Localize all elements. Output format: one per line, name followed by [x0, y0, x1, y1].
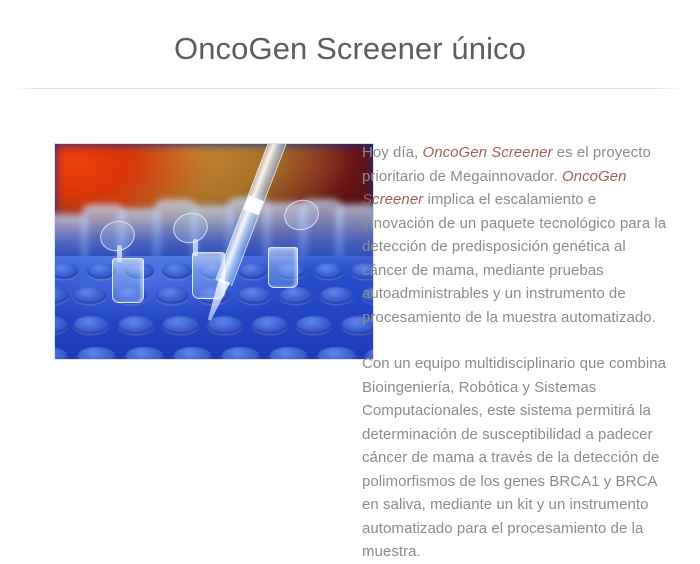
page-title: OncoGen Screener único	[0, 29, 700, 69]
article-text-column: Hoy día, OncoGen Screener es el proyecto…	[362, 141, 670, 564]
photo-tube-left-hinge	[117, 245, 122, 262]
lab-photo-image	[55, 144, 373, 359]
page-root: OncoGen Screener único	[0, 0, 700, 562]
photo-tube-right	[268, 247, 298, 288]
section-divider	[14, 88, 686, 89]
photo-tube-center-hinge	[193, 239, 198, 256]
lab-photo-figure	[54, 143, 374, 360]
paragraph-1-segment-3: implica el escalamiento e innovación de …	[362, 191, 666, 326]
paragraph-2: Con un equipo multidisciplinario que com…	[362, 352, 670, 564]
paragraph-1-segment-1: Hoy día,	[362, 144, 422, 161]
paragraph-1: Hoy día, OncoGen Screener es el proyecto…	[362, 141, 670, 329]
photo-pipette-band	[243, 195, 263, 214]
brand-name-first: OncoGen Screener	[422, 144, 552, 161]
photo-tube-left	[112, 258, 144, 303]
